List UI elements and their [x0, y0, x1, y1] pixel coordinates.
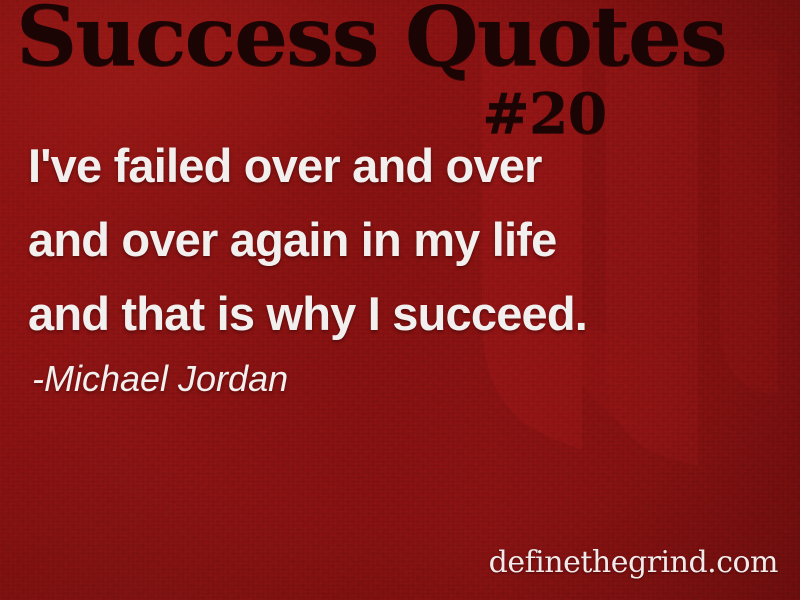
- quote-line: and that is why I succeed.: [28, 277, 776, 351]
- site-watermark: definethegrind.com: [489, 548, 778, 578]
- poster-content: Success Quotes #20 I've failed over and …: [0, 0, 800, 600]
- quote-text: I've failed over and over and over again…: [28, 129, 776, 351]
- quote-line: and over again in my life: [28, 203, 776, 277]
- quote-line: I've failed over and over: [28, 129, 776, 203]
- page-title: Success Quotes: [16, 0, 800, 78]
- quote-attribution: -Michael Jordan: [32, 361, 288, 397]
- quote-poster: Success Quotes #20 I've failed over and …: [0, 0, 800, 600]
